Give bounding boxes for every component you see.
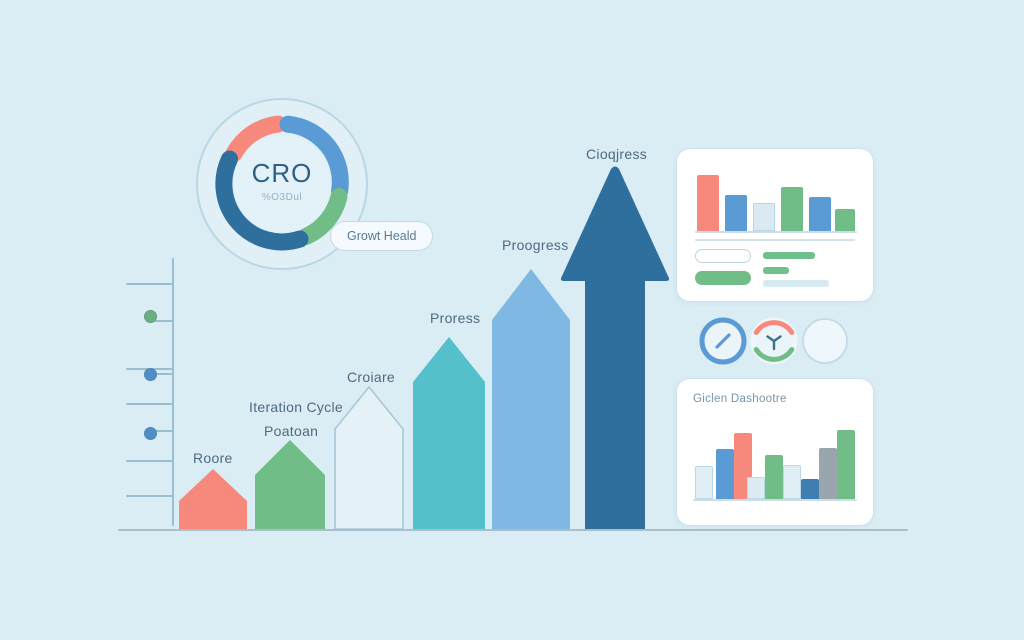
row-pill-green[interactable] xyxy=(695,271,751,285)
growth-pill-label[interactable]: Growt Heald xyxy=(330,221,433,251)
mini-bar xyxy=(835,209,855,231)
dashboard-card[interactable]: Giclen Dashootre xyxy=(676,378,874,526)
axis-tick xyxy=(126,283,173,285)
bar-3 xyxy=(334,384,404,529)
mini-bar xyxy=(765,455,783,499)
gauge-split[interactable] xyxy=(749,316,799,366)
bar-label-arrow: Cioqjress xyxy=(586,146,647,162)
mini-bar xyxy=(716,449,734,499)
bar-label-5: Proogress xyxy=(502,237,569,253)
mini-bar xyxy=(819,448,837,499)
axis-dot-green xyxy=(144,310,157,323)
mini-bar xyxy=(697,175,719,231)
gauge-speed[interactable] xyxy=(698,316,748,366)
row-pill-outline[interactable] xyxy=(695,249,751,263)
axis-tick xyxy=(126,403,173,405)
axis-tick xyxy=(126,460,173,462)
donut-center-subtitle: %O3Dul xyxy=(196,192,368,203)
row-bar-pale xyxy=(763,280,829,287)
mini-bar xyxy=(753,203,775,231)
gauge-empty[interactable] xyxy=(800,316,850,366)
mini-bar xyxy=(837,430,855,499)
arrow-bar xyxy=(559,164,671,529)
bar-1 xyxy=(179,467,247,529)
axis-line xyxy=(172,258,174,526)
bar-2 xyxy=(255,437,325,529)
mini-bar xyxy=(781,187,803,231)
mini-bar xyxy=(695,466,713,499)
mini-bar xyxy=(747,477,765,499)
mini-bar xyxy=(725,195,747,231)
illustration-canvas: Roore Iteration Cycle Poatoan Croiare Pr… xyxy=(0,0,1024,640)
card-divider xyxy=(695,239,855,241)
bar-label-1: Roore xyxy=(193,450,233,466)
chart-baseline xyxy=(118,529,908,531)
card-chart-baseline xyxy=(695,231,857,233)
card-chart-baseline xyxy=(693,499,857,501)
bar-4 xyxy=(413,334,485,529)
dashboard-card-title: Giclen Dashootre xyxy=(693,393,787,405)
axis-dot-blue-2 xyxy=(144,427,157,440)
axis-dot-blue-1 xyxy=(144,368,157,381)
bar-label-iteration-cycle: Iteration Cycle xyxy=(249,399,343,415)
donut-center-title: CRO xyxy=(196,158,368,189)
analytics-card[interactable] xyxy=(676,148,874,302)
mini-bar xyxy=(783,465,801,499)
mini-bar xyxy=(801,479,819,499)
bar-label-2: Poatoan xyxy=(264,423,318,439)
bar-label-3: Croiare xyxy=(347,369,395,385)
bar-label-4: Proress xyxy=(430,310,480,326)
row-bar-green-1 xyxy=(763,252,815,259)
mini-bar xyxy=(809,197,831,231)
axis-tick xyxy=(126,495,173,497)
row-bar-green-2 xyxy=(763,267,789,274)
